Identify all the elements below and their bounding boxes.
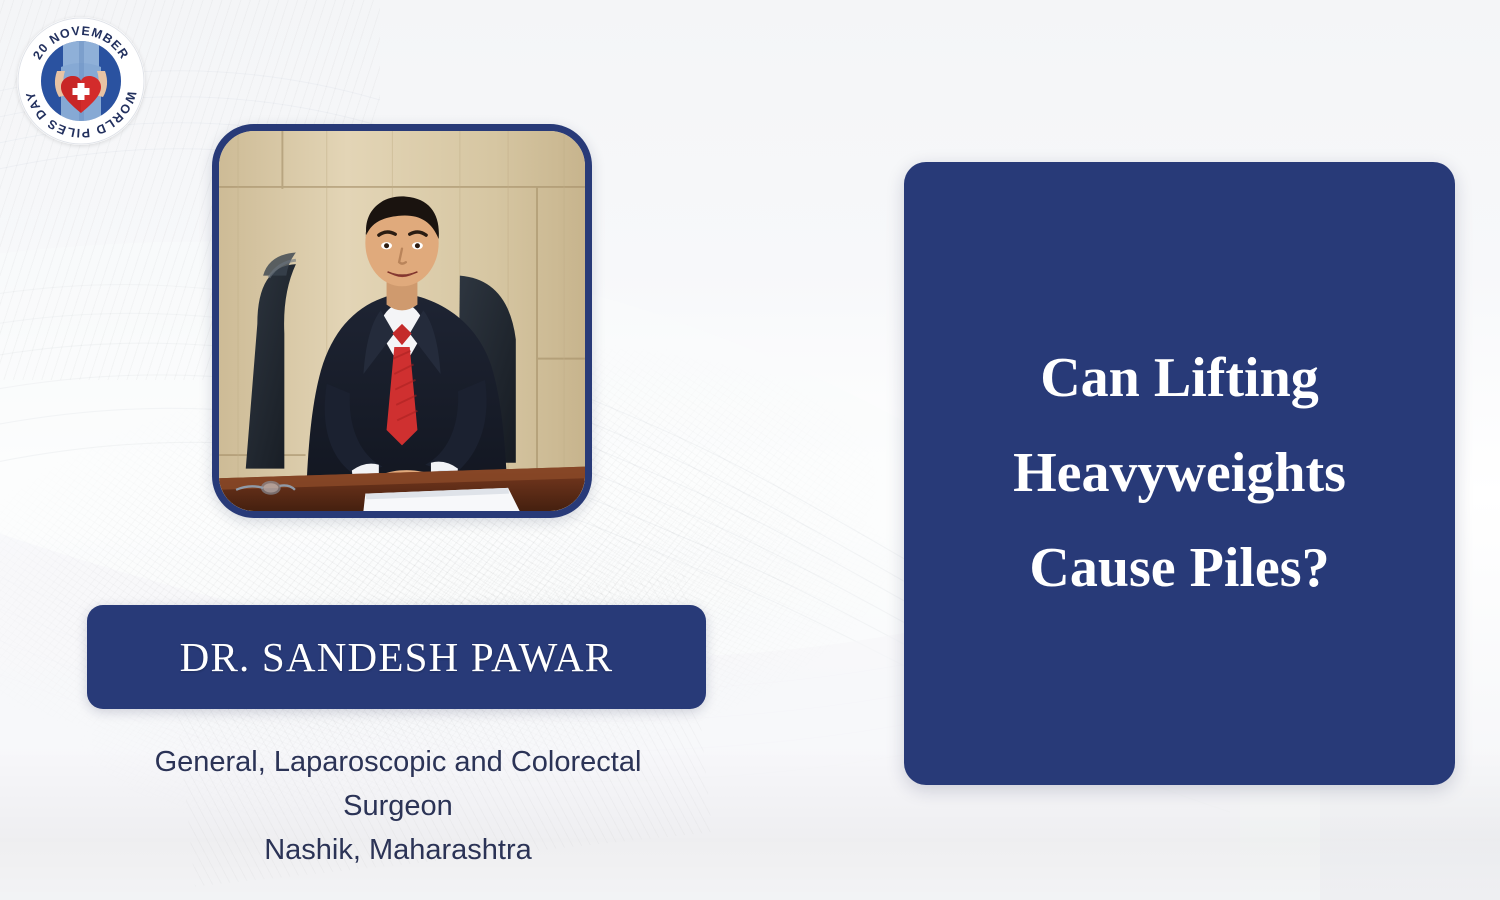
doctor-name: DR. SANDESH PAWAR — [180, 633, 614, 681]
specialty-line-2: Surgeon — [60, 784, 736, 828]
doctor-portrait-photo — [219, 131, 585, 511]
specialty-line-1: General, Laparoscopic and Colorectal — [60, 740, 736, 784]
doctor-portrait-frame — [212, 124, 592, 518]
promo-card-canvas: 20 NOVEMBER WORLD PILES DAY — [0, 0, 1500, 900]
doctor-credentials: General, Laparoscopic and Colorectal Sur… — [60, 740, 736, 872]
doctor-location: Nashik, Maharashtra — [60, 828, 736, 872]
headline-line-3: Cause Piles? — [1013, 521, 1346, 616]
headline-text: Can Lifting Heavyweights Cause Piles? — [983, 331, 1376, 616]
headline-line-1: Can Lifting — [1013, 331, 1346, 426]
world-piles-day-logo: 20 NOVEMBER WORLD PILES DAY — [17, 17, 145, 145]
headline-line-2: Heavyweights — [1013, 426, 1346, 521]
headline-panel: Can Lifting Heavyweights Cause Piles? — [904, 162, 1455, 785]
doctor-name-banner: DR. SANDESH PAWAR — [87, 605, 706, 709]
